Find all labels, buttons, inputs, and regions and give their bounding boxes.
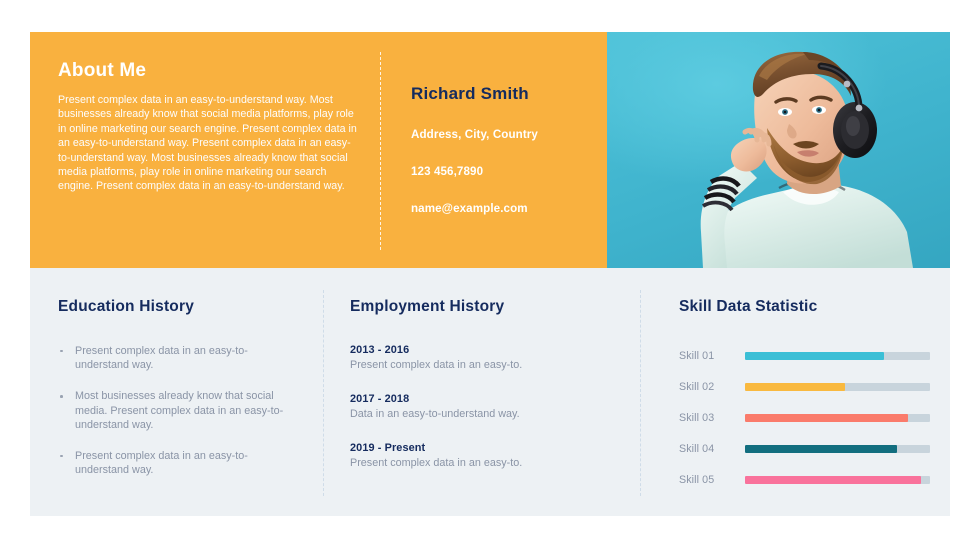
skill-bar-track [745,383,930,391]
portrait-figure-illustration [607,32,950,268]
education-history-section: Education History Present complex data i… [30,268,323,516]
skill-bar-fill [745,352,884,360]
employment-description: Present complex data in an easy-to. [350,358,616,372]
skill-bar-fill [745,476,921,484]
about-text-column: About Me Present complex data in an easy… [30,32,360,268]
skill-bar-track [745,445,930,453]
bottom-band: Education History Present complex data i… [30,268,950,516]
skill-data-statistic-title: Skill Data Statistic [679,298,930,316]
skill-bar-track [745,352,930,360]
skill-bar-fill [745,414,908,422]
about-me-title: About Me [58,60,360,82]
employment-years: 2013 - 2016 [350,344,616,356]
employment-description: Data in an easy-to-understand way. [350,407,616,421]
contact-email: name@example.com [411,202,607,215]
list-item: Skill 01 [679,340,930,371]
education-list: Present complex data in an easy-to-under… [58,344,299,477]
list-item: 2017 - 2018 Data in an easy-to-understan… [350,393,616,421]
skill-bar-list: Skill 01 Skill 02 Skill 03 [679,340,930,495]
list-item: Present complex data in an easy-to-under… [58,449,299,477]
education-history-title: Education History [58,298,299,316]
contact-column: Richard Smith Address, City, Country 123… [381,32,607,268]
list-item: 2013 - 2016 Present complex data in an e… [350,344,616,372]
employment-years: 2019 - Present [350,442,616,454]
list-item: 2019 - Present Present complex data in a… [350,442,616,470]
employment-history-title: Employment History [350,298,616,316]
list-item: Most businesses already know that social… [58,389,299,432]
skill-label: Skill 04 [679,443,745,455]
skill-bar-track [745,476,930,484]
about-me-body: Present complex data in an easy-to-under… [58,93,360,194]
candidate-name: Richard Smith [411,84,607,104]
skill-label: Skill 05 [679,474,745,486]
list-item: Skill 02 [679,371,930,402]
resume-infographic-page: About Me Present complex data in an easy… [0,0,980,551]
skill-bar-fill [745,383,845,391]
employment-description: Present complex data in an easy-to. [350,456,616,470]
contact-phone: 123 456,7890 [411,165,607,178]
skill-bar-fill [745,445,897,453]
about-me-panel: About Me Present complex data in an easy… [30,32,607,268]
list-item: Skill 05 [679,464,930,495]
employment-history-section: Employment History 2013 - 2016 Present c… [324,268,640,516]
employment-years: 2017 - 2018 [350,393,616,405]
list-item: Present complex data in an easy-to-under… [58,344,299,372]
portrait-photo [607,32,950,268]
contact-address: Address, City, Country [411,128,607,141]
list-item: Skill 04 [679,433,930,464]
skill-label: Skill 02 [679,381,745,393]
skill-data-statistic-section: Skill Data Statistic Skill 01 Skill 02 S… [641,268,950,516]
list-item: Skill 03 [679,402,930,433]
top-band: About Me Present complex data in an easy… [30,32,950,268]
skill-label: Skill 03 [679,412,745,424]
skill-bar-track [745,414,930,422]
skill-label: Skill 01 [679,350,745,362]
